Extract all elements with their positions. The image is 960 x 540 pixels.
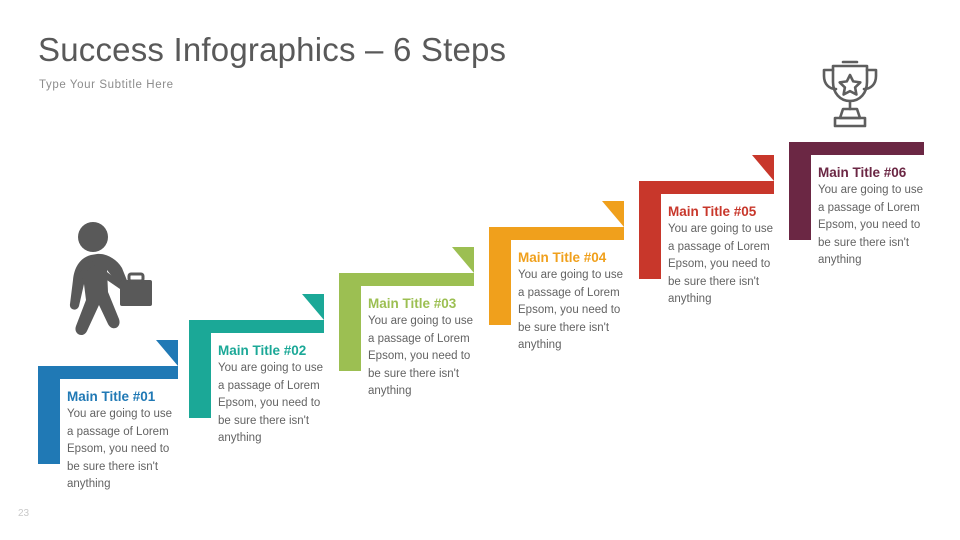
step-fold-3: [452, 247, 474, 273]
page-number: 23: [18, 508, 29, 519]
step-title-4: Main Title #04: [518, 249, 631, 266]
step-left-bar-6: [789, 142, 811, 240]
page-title: Success Infographics – 6 Steps: [38, 31, 506, 69]
step-title-1: Main Title #01: [67, 388, 180, 405]
step-fold-4: [602, 201, 624, 227]
step-fold-5: [752, 155, 774, 181]
step-fold-1: [156, 340, 178, 366]
step-left-bar-4: [489, 227, 511, 325]
step-text-4: Main Title #04 You are going to use a pa…: [518, 249, 631, 355]
step-body-4: You are going to use a passage of Lorem …: [518, 267, 631, 355]
step-left-bar-3: [339, 273, 361, 371]
step-body-5: You are going to use a passage of Lorem …: [668, 221, 781, 309]
businessman-walking-icon: [66, 222, 154, 349]
step-title-6: Main Title #06: [818, 164, 931, 181]
step-left-bar-5: [639, 181, 661, 279]
step-body-2: You are going to use a passage of Lorem …: [218, 360, 331, 448]
step-left-bar-2: [189, 320, 211, 418]
step-text-6: Main Title #06 You are going to use a pa…: [818, 164, 931, 270]
step-text-1: Main Title #01 You are going to use a pa…: [67, 388, 180, 494]
trophy-icon: [812, 56, 888, 137]
step-title-3: Main Title #03: [368, 295, 481, 312]
step-body-1: You are going to use a passage of Lorem …: [67, 406, 180, 494]
step-fold-2: [302, 294, 324, 320]
step-text-3: Main Title #03 You are going to use a pa…: [368, 295, 481, 401]
step-left-bar-1: [38, 366, 60, 464]
step-body-6: You are going to use a passage of Lorem …: [818, 182, 931, 270]
step-text-5: Main Title #05 You are going to use a pa…: [668, 203, 781, 309]
step-title-5: Main Title #05: [668, 203, 781, 220]
step-body-3: You are going to use a passage of Lorem …: [368, 313, 481, 401]
step-title-2: Main Title #02: [218, 342, 331, 359]
slide-canvas: Success Infographics – 6 Steps Type Your…: [0, 0, 960, 540]
step-text-2: Main Title #02 You are going to use a pa…: [218, 342, 331, 448]
page-subtitle: Type Your Subtitle Here: [39, 79, 174, 91]
